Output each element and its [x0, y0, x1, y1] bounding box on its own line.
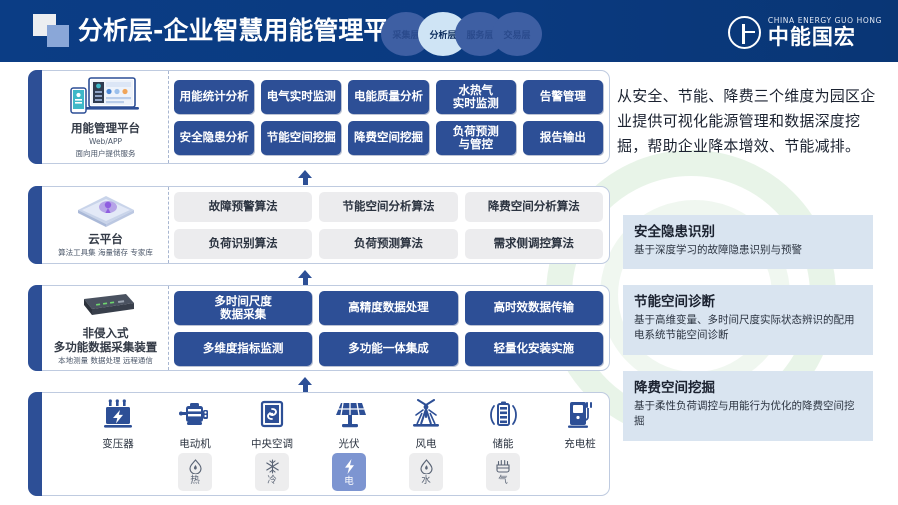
arrow-up-platform [298, 170, 312, 185]
feature-card-safety-title: 安全隐患识别 [634, 224, 862, 241]
btn-energy-saving-space-algorithm[interactable]: 节能空间分析算法 [319, 192, 457, 222]
intro-paragraph: 从安全、节能、降费三个维度为园区企业提供可视化能源管理和数据深度挖掘，帮助企业降… [617, 84, 883, 159]
panel-collector-buttons: 多时间尺度 数据采集 高精度数据处理 高时效数据传输 多维度指标监测 多功能一体… [174, 286, 603, 370]
solar-panel-icon [330, 399, 368, 433]
panel-cloud-device: 云平台 算法工具集 海量储存 专家库 [43, 187, 169, 263]
panel-collector-device-name: 非侵入式 [83, 326, 129, 340]
device-transformer[interactable]: 变压器 [81, 399, 155, 451]
panel-platform: 用能管理平台 Web/APP 面向用户提供服务 用能统计分析 电气实时监测 电能… [28, 70, 610, 164]
btn-demand-side-control-algorithm[interactable]: 需求侧调控算法 [465, 229, 603, 259]
panel-cloud-buttons: 故障预警算法 节能空间分析算法 降费空间分析算法 负荷识别算法 负荷预测算法 需… [174, 187, 603, 263]
central-ac-icon [255, 399, 289, 433]
right-column: 从安全、节能、降费三个维度为园区企业提供可视化能源管理和数据深度挖掘，帮助企业降… [617, 62, 885, 505]
energy-type-electric[interactable]: 电 [332, 453, 366, 491]
feature-card-cost-reduction-title: 降费空间挖掘 [634, 380, 862, 397]
panel-collector: 非侵入式 多功能数据采集装置 本地测量 数据处理 远程通信 多时间尺度 数据采集… [28, 285, 610, 371]
panel-collector-device-name2: 多功能数据采集装置 [54, 340, 158, 354]
energy-type-water-label: 水 [421, 475, 431, 486]
feature-card-energy-saving-body: 基于高维变量、多时间尺度实际状态辨识的配用电系统节能空间诊断 [634, 313, 862, 343]
panel-platform-buttons: 用能统计分析 电气实时监测 电能质量分析 水热气 实时监测 告警管理 安全隐患分… [174, 71, 603, 163]
panel-collector-row-2: 多维度指标监测 多功能一体集成 轻量化安装实施 [174, 332, 603, 366]
transformer-icon [101, 399, 135, 433]
panel-platform-device: 用能管理平台 Web/APP 面向用户提供服务 [43, 71, 169, 163]
gas-icon [495, 459, 511, 474]
device-solar-label: 光伏 [339, 436, 360, 451]
battery-storage-icon [486, 399, 520, 433]
btn-power-quality-analysis[interactable]: 电能质量分析 [348, 80, 428, 114]
energy-type-gas-label: 气 [498, 475, 508, 486]
btn-high-timeliness-transmission[interactable]: 高时效数据传输 [465, 291, 603, 325]
page-title: 分析层-企业智慧用能管理平台 [78, 14, 413, 47]
flame-drop-icon [188, 459, 203, 474]
feature-card-energy-saving-title: 节能空间诊断 [634, 294, 862, 311]
lightning-bolt-icon [342, 458, 357, 475]
header-bar: 分析层-企业智慧用能管理平台 采集层 分析层 服务层 交易层 CHINA ENE… [0, 0, 898, 62]
panel-cloud-row-1: 故障预警算法 节能空间分析算法 降费空间分析算法 [174, 192, 603, 222]
company-logo-text: CHINA ENERGY GUO HONG 中能国宏 [768, 16, 882, 49]
panel-platform-device-sub2: 面向用户提供服务 [76, 148, 136, 159]
panel-devices: 变压器 电动机 [28, 392, 610, 496]
energy-type-gas[interactable]: 气 [486, 453, 520, 491]
device-storage[interactable]: 储能 [466, 399, 540, 451]
panel-platform-row-2: 安全隐患分析 节能空间挖掘 降费空间挖掘 负荷预测 与管控 报告输出 [174, 121, 603, 155]
cloud-platform-box-icon [74, 193, 138, 229]
charging-pile-icon [563, 399, 597, 433]
snowflake-icon [265, 459, 280, 474]
data-collector-device-icon [74, 291, 138, 323]
device-charging-pile-label: 充电桩 [564, 436, 596, 451]
device-wind-label: 风电 [416, 436, 437, 451]
btn-cost-reduction-space-mining[interactable]: 降费空间挖掘 [348, 121, 428, 155]
feature-card-safety-body: 基于深度学习的故障隐患识别与预警 [634, 243, 862, 258]
panel-collector-device: 非侵入式 多功能数据采集装置 本地测量 数据处理 远程通信 [43, 286, 169, 370]
energy-type-cold-label: 冷 [267, 475, 277, 486]
layer-ellipse-trade[interactable]: 交易层 [492, 12, 542, 56]
energy-type-heat-label: 热 [190, 475, 200, 486]
panel-cloud-device-name: 云平台 [88, 232, 123, 246]
btn-energy-saving-space-mining[interactable]: 节能空间挖掘 [261, 121, 341, 155]
btn-report-output[interactable]: 报告输出 [523, 121, 603, 155]
water-drop-icon [419, 459, 434, 474]
btn-load-identification-algorithm[interactable]: 负荷识别算法 [174, 229, 312, 259]
panel-devices-edge [28, 392, 42, 496]
feature-card-energy-saving[interactable]: 节能空间诊断 基于高维变量、多时间尺度实际状态辨识的配用电系统节能空间诊断 [623, 285, 873, 355]
btn-multifunction-integration[interactable]: 多功能一体集成 [319, 332, 457, 366]
motor-icon [178, 399, 212, 433]
logo-square-blue [47, 25, 69, 47]
feature-card-safety[interactable]: 安全隐患识别 基于深度学习的故障隐患识别与预警 [623, 215, 873, 269]
panel-cloud: 云平台 算法工具集 海量储存 专家库 故障预警算法 节能空间分析算法 降费空间分… [28, 186, 610, 264]
panel-platform-device-sub1: Web/APP [89, 136, 122, 147]
btn-load-forecast-control[interactable]: 负荷预测 与管控 [436, 121, 516, 155]
device-central-ac[interactable]: 中央空调 [235, 399, 309, 451]
panel-cloud-device-sub1: 算法工具集 海量储存 专家库 [58, 247, 153, 258]
panel-collector-row-1: 多时间尺度 数据采集 高精度数据处理 高时效数据传输 [174, 291, 603, 325]
laptop-phone-dashboard-icon [69, 76, 143, 118]
guohong-ring-icon [728, 16, 761, 49]
device-wind[interactable]: 风电 [389, 399, 463, 451]
device-transformer-label: 变压器 [102, 436, 134, 451]
panel-platform-row-1: 用能统计分析 电气实时监测 电能质量分析 水热气 实时监测 告警管理 [174, 80, 603, 114]
panel-platform-edge [28, 70, 42, 164]
diagram-stage: 用能管理平台 Web/APP 面向用户提供服务 用能统计分析 电气实时监测 电能… [0, 62, 898, 505]
panel-cloud-edge [28, 186, 42, 264]
arrow-up-cloud [298, 270, 312, 285]
btn-lightweight-installation[interactable]: 轻量化安装实施 [465, 332, 603, 366]
slide-root: 分析层-企业智慧用能管理平台 采集层 分析层 服务层 交易层 CHINA ENE… [0, 0, 898, 505]
device-charging-pile[interactable]: 充电桩 [543, 399, 617, 451]
company-name-cn: 中能国宏 [768, 26, 882, 49]
btn-load-forecast-algorithm[interactable]: 负荷预测算法 [319, 229, 457, 259]
energy-type-cold[interactable]: 冷 [255, 453, 289, 491]
btn-multi-timescale-collection[interactable]: 多时间尺度 数据采集 [174, 291, 312, 325]
layer-ellipse-group: 采集层 分析层 服务层 交易层 [381, 12, 541, 56]
panel-collector-edge [28, 285, 42, 371]
feature-card-cost-reduction-body: 基于柔性负荷调控与用能行为优化的降费空间挖掘 [634, 399, 862, 429]
btn-high-precision-processing[interactable]: 高精度数据处理 [319, 291, 457, 325]
arrow-up-collector [298, 377, 312, 392]
btn-safety-hazard-analysis[interactable]: 安全隐患分析 [174, 121, 254, 155]
btn-water-heat-gas-monitor[interactable]: 水热气 实时监测 [436, 80, 516, 114]
btn-fault-warning-algorithm[interactable]: 故障预警算法 [174, 192, 312, 222]
panel-collector-device-sub1: 本地测量 数据处理 远程通信 [58, 355, 153, 366]
btn-energy-statistics[interactable]: 用能统计分析 [174, 80, 254, 114]
feature-card-cost-reduction[interactable]: 降费空间挖掘 基于柔性负荷调控与用能行为优化的降费空间挖掘 [623, 371, 873, 441]
company-logo: CHINA ENERGY GUO HONG 中能国宏 [728, 14, 882, 50]
panel-cloud-row-2: 负荷识别算法 负荷预测算法 需求侧调控算法 [174, 229, 603, 259]
device-motor-label: 电动机 [179, 436, 211, 451]
btn-multidimensional-monitoring[interactable]: 多维度指标监测 [174, 332, 312, 366]
energy-type-water[interactable]: 水 [409, 453, 443, 491]
device-storage-label: 储能 [493, 436, 514, 451]
wind-turbine-icon [408, 399, 444, 433]
company-name-en: CHINA ENERGY GUO HONG [768, 16, 882, 26]
btn-cost-reduction-space-algorithm[interactable]: 降费空间分析算法 [465, 192, 603, 222]
logo-mark-icon [33, 14, 71, 48]
energy-type-electric-label: 电 [344, 476, 354, 487]
device-central-ac-label: 中央空调 [251, 436, 293, 451]
panel-platform-device-name: 用能管理平台 [71, 121, 140, 135]
btn-alarm-management[interactable]: 告警管理 [523, 80, 603, 114]
btn-electrical-realtime-monitor[interactable]: 电气实时监测 [261, 80, 341, 114]
energy-type-heat[interactable]: 热 [178, 453, 212, 491]
device-motor[interactable]: 电动机 [158, 399, 232, 451]
device-solar[interactable]: 光伏 [312, 399, 386, 451]
